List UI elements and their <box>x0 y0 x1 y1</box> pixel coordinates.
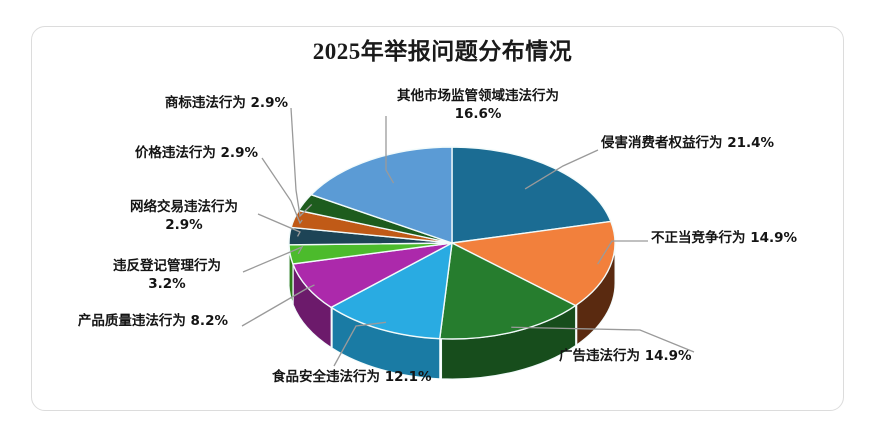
slice-label-online-trading: 网络交易违法行为 2.9% <box>104 199 264 235</box>
chart-page: 2025年举报问题分布情况 其他市场监管领域违法行为 16.6% 侵害消费者权益… <box>0 0 885 447</box>
slice-label-unfair-competition: 不正当竞争行为 14.9% <box>651 230 871 248</box>
slice-label-other-market: 其他市场监管领域违法行为 16.6% <box>378 88 578 124</box>
slice-label-product-quality: 产品质量违法行为 8.2% <box>28 313 228 331</box>
slice-label-registration: 违反登记管理行为 3.2% <box>92 258 242 294</box>
chart-title: 2025年举报问题分布情况 <box>0 32 885 66</box>
slice-label-trademark: 商标违法行为 2.9% <box>66 95 288 113</box>
slice-label-food-safety: 食品安全违法行为 12.1% <box>272 369 492 387</box>
slice-label-consumer-rights: 侵害消费者权益行为 21.4% <box>601 135 831 153</box>
slice-label-advertising: 广告违法行为 14.9% <box>559 348 779 366</box>
slice-label-pricing: 价格违法行为 2.9% <box>46 145 258 163</box>
